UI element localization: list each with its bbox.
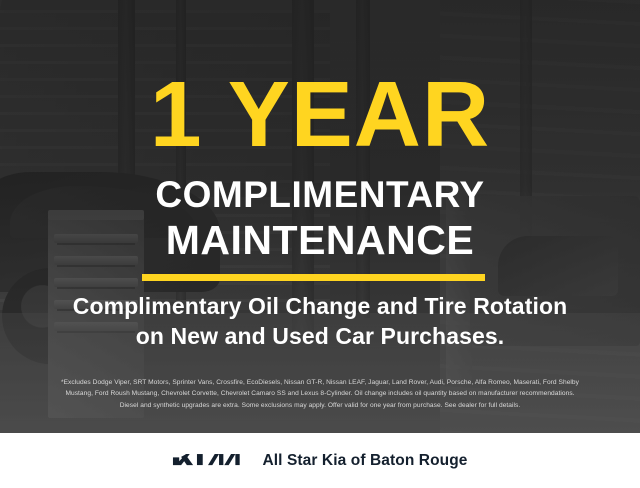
headline-year: 1 YEAR: [0, 68, 640, 161]
offer-description: Complimentary Oil Change and Tire Rotati…: [0, 291, 640, 352]
promotional-banner-ad: 1 YEAR COMPLIMENTARY MAINTENANCE Complim…: [0, 0, 640, 488]
banner-hero: 1 YEAR COMPLIMENTARY MAINTENANCE Complim…: [0, 0, 640, 433]
dealer-name: All Star Kia of Baton Rouge: [262, 452, 467, 470]
disclaimer-line-2: Mustang, Ford Roush Mustang, Chevrolet C…: [14, 388, 626, 399]
disclaimer-text: *Excludes Dodge Viper, SRT Motors, Sprin…: [14, 377, 626, 411]
dealer-footer: All Star Kia of Baton Rouge: [0, 433, 640, 488]
offer-line-1: Complimentary Oil Change and Tire Rotati…: [0, 291, 640, 321]
headline-line-2: MAINTENANCE: [0, 220, 640, 261]
banner-content: 1 YEAR COMPLIMENTARY MAINTENANCE Complim…: [0, 0, 640, 433]
offer-line-2: on New and Used Car Purchases.: [0, 321, 640, 351]
kia-logo-icon: [172, 450, 244, 472]
headline-complimentary-maintenance: COMPLIMENTARY MAINTENANCE: [0, 176, 640, 261]
disclaimer-line-1: *Excludes Dodge Viper, SRT Motors, Sprin…: [14, 377, 626, 388]
yellow-divider-bar: [142, 274, 485, 281]
headline-line-1: COMPLIMENTARY: [155, 174, 484, 215]
disclaimer-line-3: Diesel and synthetic upgrades are extra.…: [14, 400, 626, 411]
